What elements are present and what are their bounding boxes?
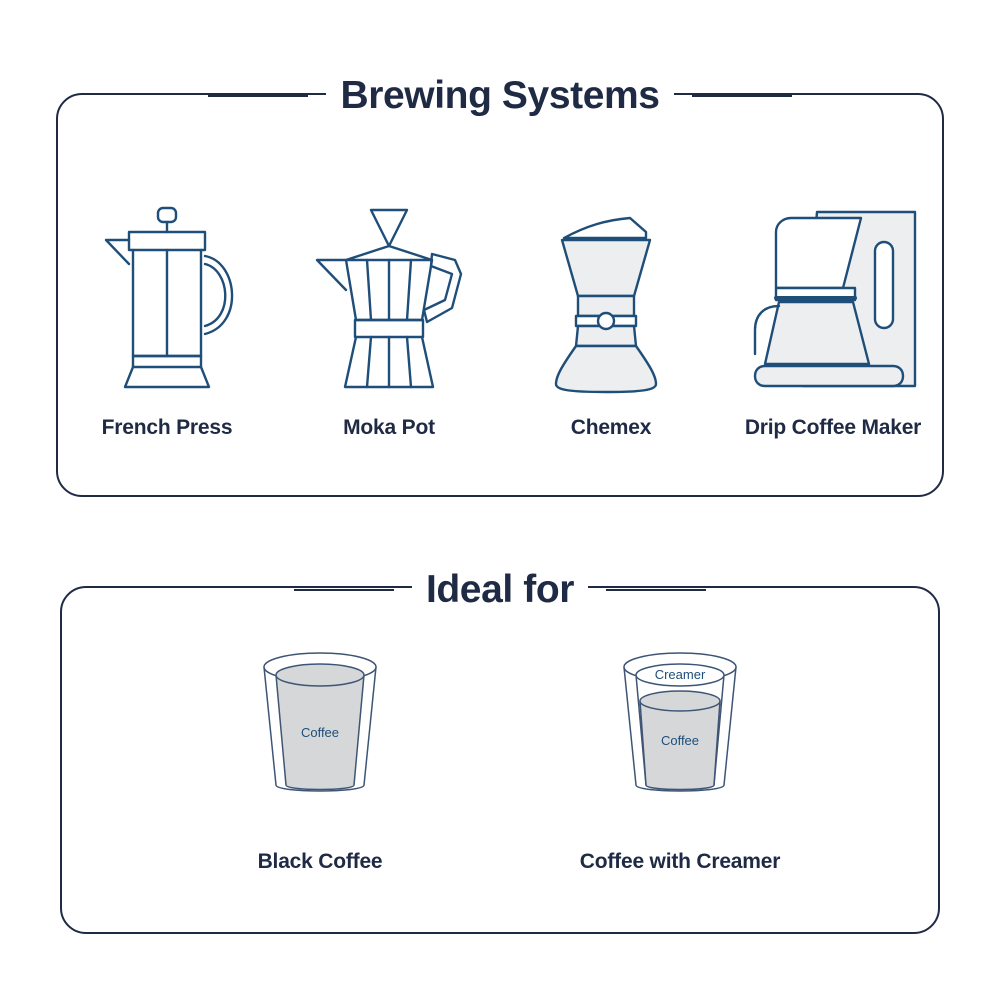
cup-coffee-creamer-icon: Creamer Coffee — [610, 645, 750, 805]
brewing-item-french-press[interactable]: French Press — [56, 204, 278, 440]
black-coffee-art: Coffee — [250, 645, 390, 810]
moka-pot-art — [309, 204, 469, 394]
chemex-icon — [546, 204, 676, 394]
drip-coffee-maker-art — [743, 204, 923, 394]
coffee-creamer-art: Creamer Coffee — [610, 645, 750, 810]
ideal-item-label: Black Coffee — [258, 850, 383, 874]
brewing-item-moka-pot[interactable]: Moka Pot — [278, 204, 500, 440]
brewing-systems-heading: Brewing Systems — [0, 66, 1000, 126]
infographic-page: Brewing Systems — [0, 0, 1000, 1000]
ideal-item-black-coffee[interactable]: Coffee Black Coffee — [165, 645, 475, 874]
brewing-item-label: Moka Pot — [343, 416, 435, 440]
heading-rule-right — [606, 589, 706, 591]
brewing-item-chemex[interactable]: Chemex — [500, 204, 722, 440]
chemex-art — [546, 204, 676, 394]
brewing-item-drip-coffee-maker[interactable]: Drip Coffee Maker — [722, 204, 944, 440]
french-press-icon — [92, 204, 242, 394]
french-press-art — [92, 204, 242, 394]
moka-pot-icon — [309, 204, 469, 394]
ideal-for-heading: Ideal for — [0, 560, 1000, 620]
ideal-item-coffee-with-creamer[interactable]: Creamer Coffee Coffee with Creamer — [525, 645, 835, 874]
drip-coffee-maker-icon — [743, 204, 923, 394]
brewing-item-label: French Press — [102, 416, 233, 440]
brewing-item-label: Drip Coffee Maker — [745, 416, 921, 440]
cup-layer-label: Coffee — [661, 733, 699, 748]
brewing-systems-title: Brewing Systems — [326, 75, 673, 118]
heading-rule-left — [208, 95, 308, 97]
ideal-for-grid: Coffee Black Coffee — [60, 645, 940, 895]
heading-rule-left — [294, 589, 394, 591]
cup-layer-label: Coffee — [301, 725, 339, 740]
cup-black-coffee-icon: Coffee — [250, 645, 390, 805]
heading-rule-right — [692, 95, 792, 97]
ideal-item-label: Coffee with Creamer — [580, 850, 780, 874]
cup-layer-label: Creamer — [655, 667, 706, 682]
ideal-for-title: Ideal for — [412, 569, 588, 612]
brewing-item-label: Chemex — [571, 416, 652, 440]
brewing-systems-grid: French Press — [56, 170, 944, 440]
